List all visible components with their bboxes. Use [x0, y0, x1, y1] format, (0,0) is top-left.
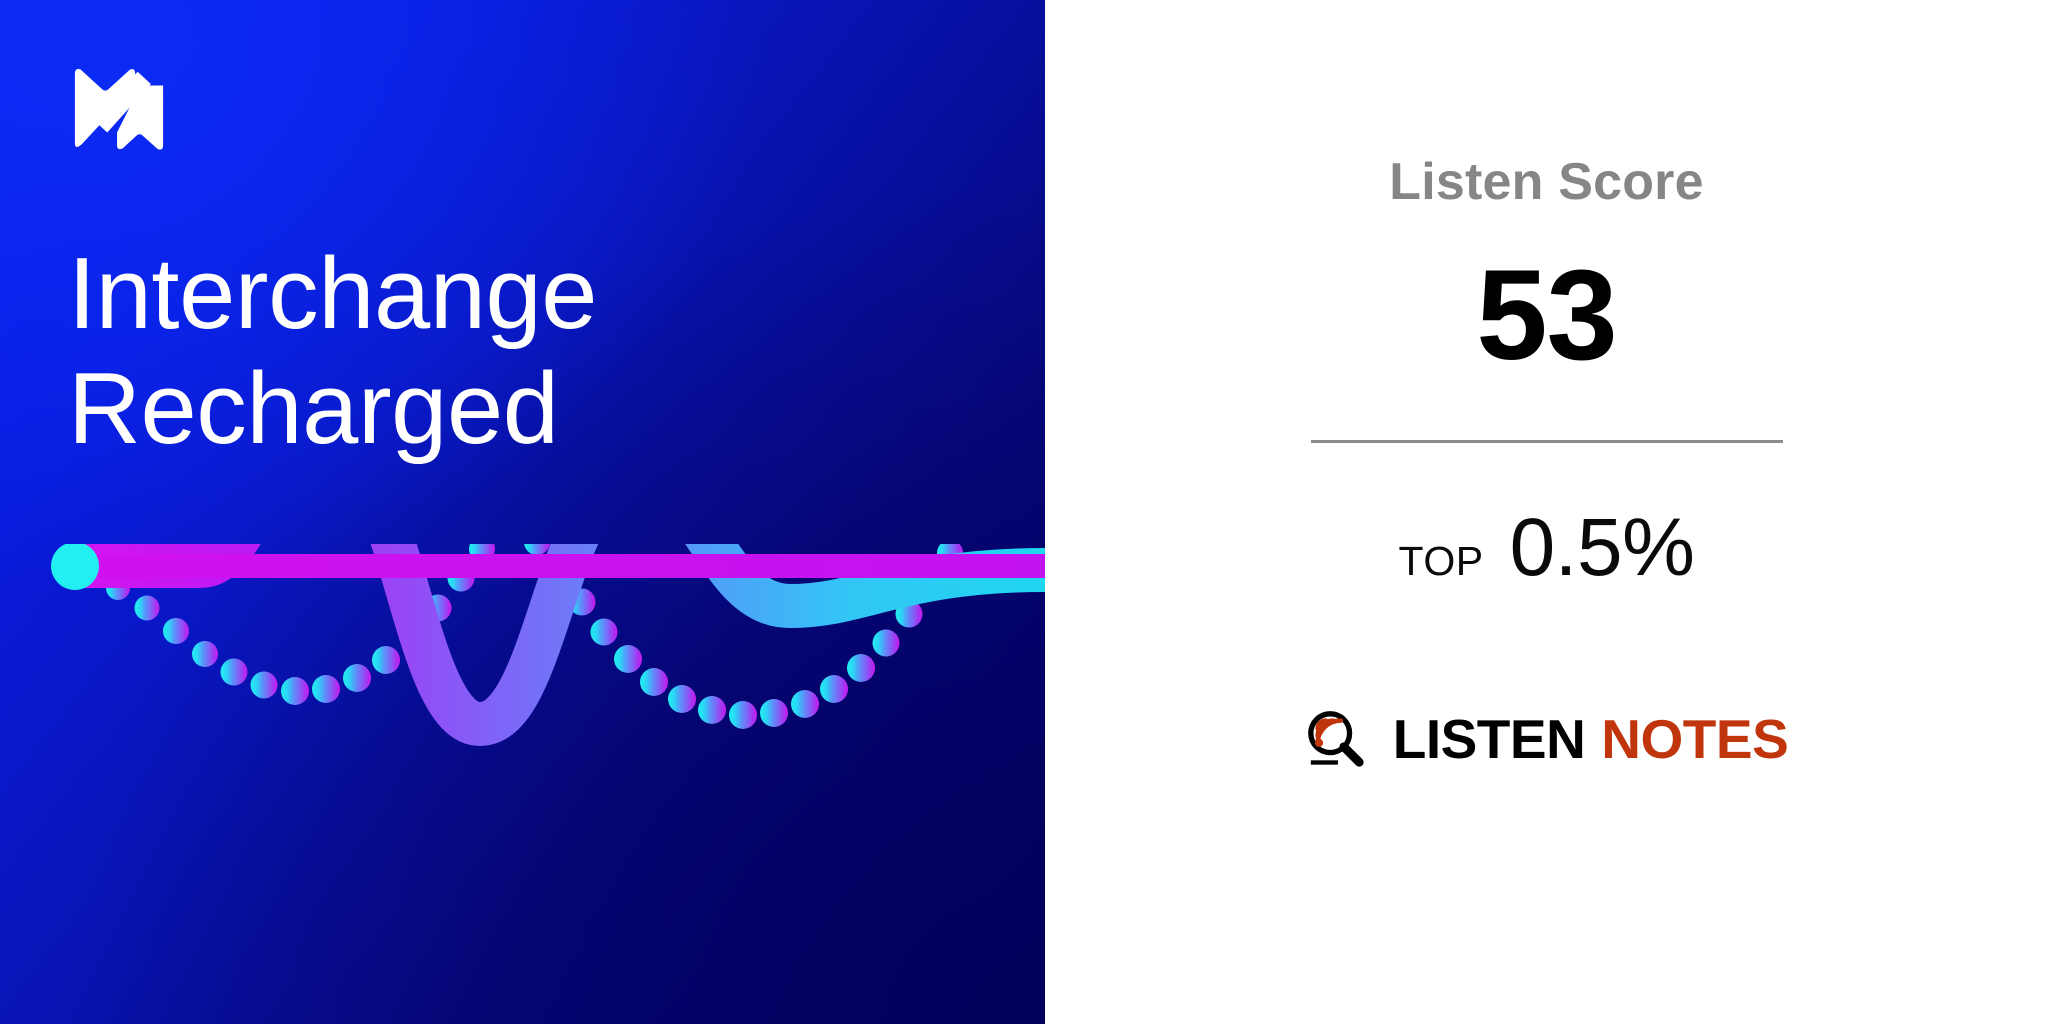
divider — [1311, 440, 1783, 443]
global-rank-row: TOP 0.5% — [1399, 501, 1695, 595]
magnifier-rss-icon — [1305, 708, 1367, 770]
wordmark-listen: LISTEN — [1393, 707, 1586, 771]
rank-percentile-value: 0.5% — [1510, 501, 1695, 595]
page-title: Interchange Recharged — [68, 237, 968, 467]
baseline-bar — [75, 554, 1045, 578]
rank-prefix-label: TOP — [1399, 538, 1484, 585]
listen-notes-logo[interactable]: LISTEN NOTES — [1305, 707, 1789, 771]
podcast-cover-art: Interchange Recharged — [0, 0, 1045, 1024]
listen-score-label: Listen Score — [1389, 152, 1704, 212]
wordmark-notes: NOTES — [1601, 707, 1788, 771]
monogram-m-slash-icon — [70, 60, 168, 158]
listen-notes-wordmark: LISTEN NOTES — [1393, 707, 1789, 771]
start-dot — [51, 544, 99, 590]
listen-score-value: 53 — [1476, 252, 1616, 380]
audio-waveform-illustration — [0, 544, 1045, 1024]
listen-score-card: Interchange Recharged — [0, 0, 2048, 1024]
listen-score-panel: Listen Score 53 TOP 0.5% — [1045, 0, 2048, 1024]
